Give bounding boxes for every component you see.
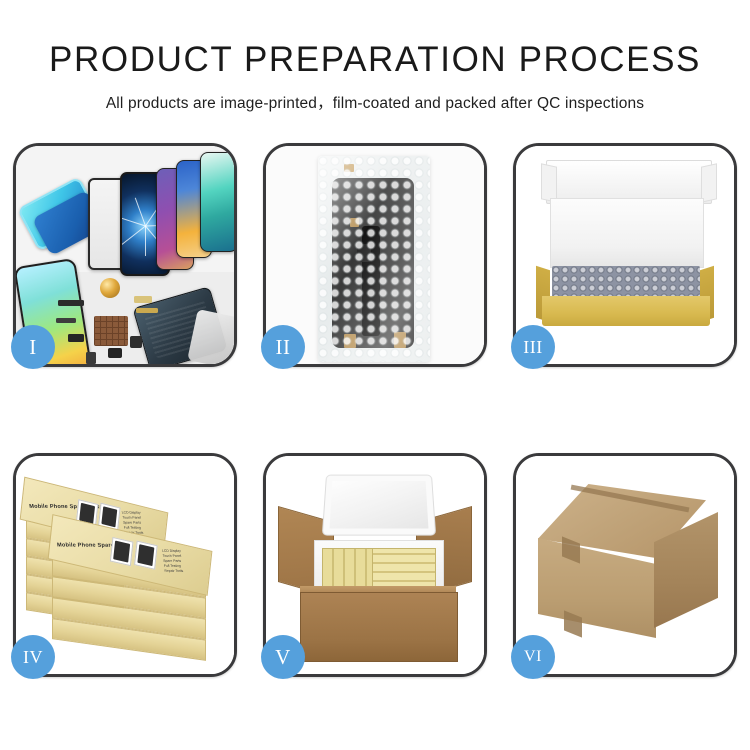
box-spec-text: LCD Display Touch Panel Spare Parts Full… bbox=[162, 549, 184, 575]
box-stack-icon: Mobile Phone Spare Parts LCD Display Tou… bbox=[22, 480, 234, 666]
process-step-panel-2: II bbox=[263, 143, 487, 367]
packed-boxes-row-b bbox=[372, 548, 436, 590]
page-subtitle: All products are image-printed，film-coat… bbox=[0, 77, 750, 113]
bubble-wrapped-contents-icon bbox=[552, 266, 700, 298]
process-step-panel-1: I bbox=[13, 143, 237, 367]
foam-cooler-lid-icon bbox=[322, 475, 436, 536]
step-badge-6: VI bbox=[511, 635, 555, 679]
step-numeral-6: VI bbox=[524, 648, 542, 666]
box-window-left bbox=[110, 537, 134, 566]
step-badge-4: IV bbox=[11, 635, 55, 679]
process-step-grid: I II bbox=[13, 143, 737, 677]
page-header: PRODUCT PREPARATION PROCESS All products… bbox=[0, 0, 750, 113]
camera-module-icon bbox=[130, 336, 142, 348]
step-badge-5: V bbox=[261, 635, 305, 679]
phone-green-icon bbox=[200, 152, 234, 252]
step-badge-1: I bbox=[11, 325, 55, 369]
step-badge-3: III bbox=[511, 325, 555, 369]
gold-component-icon bbox=[100, 278, 120, 298]
step-numeral-4: IV bbox=[23, 647, 43, 668]
foam-sheet-icon bbox=[550, 198, 704, 268]
screw-set-icon bbox=[56, 318, 76, 323]
carton-front-panel bbox=[300, 592, 458, 662]
connector-icon bbox=[134, 296, 152, 303]
battery-connector-icon bbox=[108, 348, 122, 358]
process-step-panel-5: V bbox=[263, 453, 487, 677]
bubble-wrap-bag-icon bbox=[318, 156, 430, 362]
step-numeral-2: II bbox=[276, 335, 291, 360]
ribbon-cable-icon bbox=[58, 300, 84, 306]
step-numeral-3: III bbox=[523, 337, 542, 358]
small-part-a-icon bbox=[68, 334, 84, 342]
box-front-panel bbox=[542, 296, 710, 326]
step-numeral-1: I bbox=[29, 335, 37, 360]
process-step-panel-4: Mobile Phone Spare Parts LCD Display Tou… bbox=[13, 453, 237, 677]
process-step-panel-3: III bbox=[513, 143, 737, 367]
box-window-right bbox=[134, 541, 158, 570]
step-numeral-5: V bbox=[275, 645, 291, 670]
step-badge-2: II bbox=[261, 325, 305, 369]
flex-strip-icon bbox=[136, 308, 158, 313]
small-part-b-icon bbox=[86, 352, 96, 364]
chip-array-icon bbox=[94, 316, 128, 346]
plastic-sheen bbox=[318, 156, 430, 362]
page-title: PRODUCT PREPARATION PROCESS bbox=[0, 42, 750, 77]
process-step-panel-6: VI bbox=[513, 453, 737, 677]
